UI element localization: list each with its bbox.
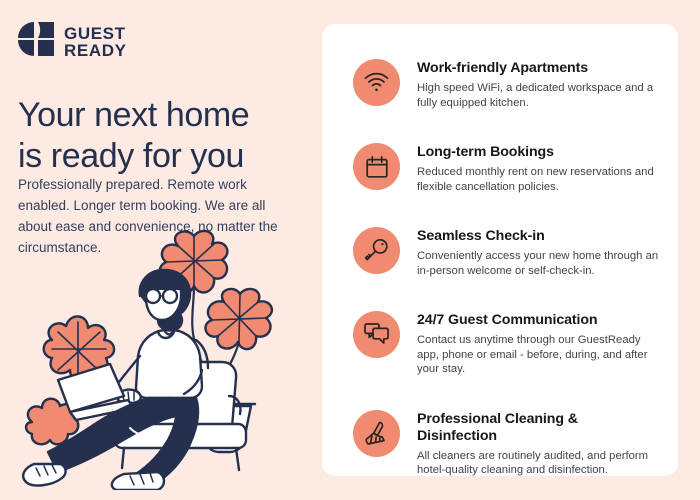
feature-title: 24/7 Guest Communication <box>417 312 660 329</box>
feature-description: Contact us anytime through our GuestRead… <box>417 333 660 377</box>
feature-description: High speed WiFi, a dedicated workspace a… <box>417 81 660 110</box>
feature-item-guest-communication[interactable]: 24/7 Guest Communication Contact us anyt… <box>353 310 660 377</box>
chat-bubbles-icon <box>353 311 400 358</box>
feature-title: Work-friendly Apartments <box>417 60 660 77</box>
feature-item-seamless-check-in[interactable]: Seamless Check-in Conveniently access yo… <box>353 226 660 278</box>
calendar-icon <box>353 143 400 190</box>
wifi-icon <box>353 59 400 106</box>
feature-title: Long-term Bookings <box>417 144 660 161</box>
guestready-quadrant-logo-icon <box>18 22 54 61</box>
feature-description: Conveniently access your new home throug… <box>417 249 660 278</box>
feature-title: Seamless Check-in <box>417 228 660 245</box>
hero-headline-line-2: is ready for you <box>18 136 308 177</box>
feature-text: Professional Cleaning & Disinfection All… <box>417 409 660 478</box>
hero-headline: Your next home is ready for you <box>18 95 308 177</box>
brand-name-line-2: READY <box>64 42 127 59</box>
feature-text: Long-term Bookings Reduced monthly rent … <box>417 142 660 194</box>
feature-item-long-term-bookings[interactable]: Long-term Bookings Reduced monthly rent … <box>353 142 660 194</box>
broom-icon <box>353 410 400 457</box>
hero-illustration <box>18 228 318 490</box>
feature-item-professional-cleaning[interactable]: Professional Cleaning & Disinfection All… <box>353 409 660 478</box>
feature-text: 24/7 Guest Communication Contact us anyt… <box>417 310 660 377</box>
feature-item-work-friendly-apartments[interactable]: Work-friendly Apartments High speed WiFi… <box>353 58 660 110</box>
poster-canvas: GUEST READY Your next home is ready for … <box>0 0 700 500</box>
brand-logo[interactable]: GUEST READY <box>18 22 127 61</box>
features-card: Work-friendly Apartments High speed WiFi… <box>322 24 678 476</box>
feature-description: All cleaners are routinely audited, and … <box>417 449 660 478</box>
features-list: Work-friendly Apartments High speed WiFi… <box>322 24 678 478</box>
brand-wordmark: GUEST READY <box>64 25 127 59</box>
feature-text: Work-friendly Apartments High speed WiFi… <box>417 58 660 110</box>
hero-headline-line-1: Your next home <box>18 95 308 136</box>
key-icon <box>353 227 400 274</box>
feature-title: Professional Cleaning & Disinfection <box>417 411 660 445</box>
feature-description: Reduced monthly rent on new reservations… <box>417 165 660 194</box>
feature-text: Seamless Check-in Conveniently access yo… <box>417 226 660 278</box>
hero-column: GUEST READY Your next home is ready for … <box>0 0 322 500</box>
brand-name-line-1: GUEST <box>64 25 127 42</box>
